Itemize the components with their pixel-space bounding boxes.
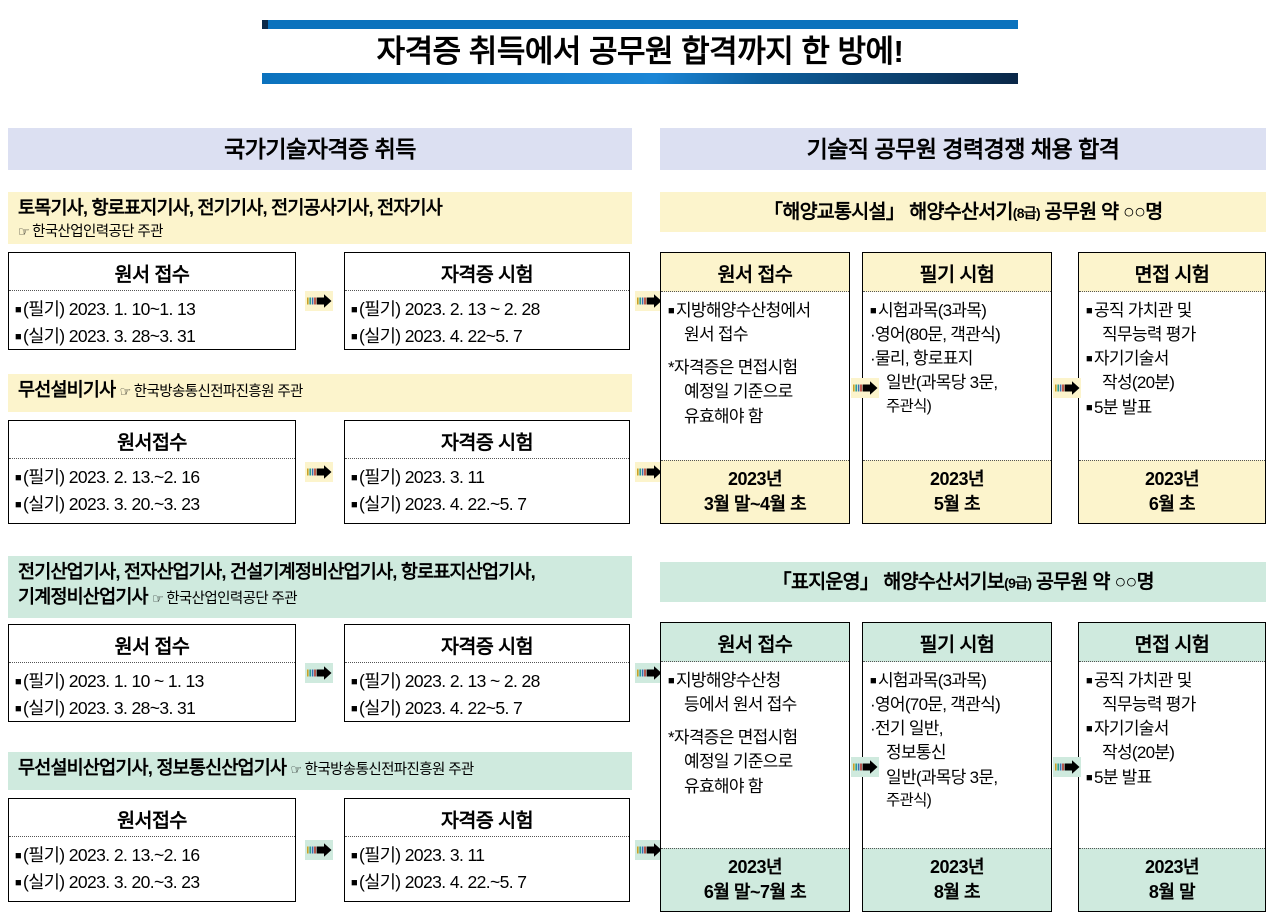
cert-step-box: 자격증 시험■(필기) 2023. 2. 13 ~ 2. 28■(실기) 202… bbox=[344, 252, 630, 350]
hiring-step-text: 예정일 기준으로 bbox=[684, 382, 793, 401]
job-count: 공무원 약 ○○명 bbox=[1040, 201, 1163, 223]
square-bullet-icon: ■ bbox=[668, 675, 676, 687]
group-subtitle: 한국산업인력공단 주관 bbox=[32, 224, 163, 240]
pointing-hand-icon: ☞ bbox=[18, 224, 32, 239]
hiring-step-line: 원서 접수 bbox=[668, 323, 844, 347]
group-subtitle-row: ☞ 한국산업인력공단 주관 bbox=[18, 221, 624, 243]
hiring-step-text: 예정일 기준으로 bbox=[684, 752, 793, 771]
square-bullet-icon: ■ bbox=[15, 676, 23, 688]
hiring-step-line: ■5분 발표 bbox=[1086, 766, 1260, 790]
hiring-step-text: 물리, 항로표지 bbox=[875, 349, 973, 368]
cert-date-line: ■(필기) 2023. 2. 13.~2. 16 bbox=[15, 464, 291, 491]
cert-date-line: ■(실기) 2023. 4. 22~5. 7 bbox=[351, 323, 625, 350]
infographic-page: 자격증 취득에서 공무원 합격까지 한 방에! 국가기술자격증 취득 기술직 공… bbox=[0, 0, 1273, 917]
group-banner-1: 토목기사, 항로표지기사, 전기기사, 전기공사기사, 전자기사☞ 한국산업인력… bbox=[8, 192, 632, 244]
schedule-year: 2023년 bbox=[1079, 467, 1265, 491]
hiring-step-line: 유효해야 함 bbox=[668, 405, 844, 429]
hiring-step-box: 원서 접수■지방해양수산청에서원서 접수*자격증은 면접시험예정일 기준으로유효… bbox=[660, 252, 850, 524]
square-bullet-icon: ■ bbox=[668, 305, 676, 317]
flow-arrow-icon bbox=[848, 373, 882, 403]
cert-date-text: (실기) 2023. 4. 22.~5. 7 bbox=[359, 494, 526, 514]
pointing-hand-icon: ☞ bbox=[152, 591, 166, 606]
hiring-step-line: *자격증은 면접시험 bbox=[668, 356, 844, 380]
hiring-step-line: ■지방해양수산청 bbox=[668, 669, 844, 693]
hiring-step-text: 직무능력 평가 bbox=[1102, 325, 1196, 344]
square-bullet-icon: ■ bbox=[351, 499, 359, 511]
cert-date-line: ■(실기) 2023. 4. 22~5. 7 bbox=[351, 695, 625, 722]
job-banner-2: 「표지운영」 해양수산서기보(9급) 공무원 약 ○○명 bbox=[660, 562, 1266, 602]
hiring-step-line: 정보통신 bbox=[870, 741, 1046, 765]
square-bullet-icon: ■ bbox=[1086, 723, 1094, 735]
hiring-step-text: 지방해양수산청 bbox=[676, 671, 781, 690]
hiring-step-text: 주관식) bbox=[886, 398, 931, 415]
schedule-year: 2023년 bbox=[661, 467, 849, 491]
hiring-step-schedule: 2023년8월 말 bbox=[1079, 848, 1265, 911]
hiring-step-line: ■자기기술서 bbox=[1086, 717, 1260, 741]
square-bullet-icon: ■ bbox=[1086, 353, 1094, 365]
hiring-step-body: ■시험과목(3과목)·영어(80문, 객관식)·물리, 항로표지일반(과목당 3… bbox=[863, 292, 1051, 460]
hiring-step-text: 작성(20분) bbox=[1102, 743, 1174, 762]
hiring-step-box: 면접 시험■공직 가치관 및직무능력 평가■자기기술서작성(20분)■5분 발표… bbox=[1078, 252, 1266, 524]
hiring-step-text: 유효해야 함 bbox=[684, 407, 763, 426]
group-subtitle: 한국방송통신전파진흥원 주관 bbox=[134, 384, 303, 400]
hiring-step-line: 예정일 기준으로 bbox=[668, 750, 844, 774]
cert-date-text: (실기) 2023. 3. 28~3. 31 bbox=[23, 326, 195, 346]
cert-date-text: (필기) 2023. 2. 13.~2. 16 bbox=[23, 845, 200, 865]
square-bullet-icon: ■ bbox=[351, 703, 359, 715]
hiring-step-box: 필기 시험■시험과목(3과목)·영어(70문, 객관식)·전기 일반,정보통신일… bbox=[862, 622, 1052, 912]
cert-step-title: 원서접수 bbox=[9, 799, 295, 837]
cert-date-line: ■(필기) 2023. 2. 13.~2. 16 bbox=[15, 842, 291, 869]
square-bullet-icon: ■ bbox=[15, 472, 23, 484]
hiring-step-body: ■공직 가치관 및직무능력 평가■자기기술서작성(20분)■5분 발표 bbox=[1079, 292, 1265, 460]
group-title: 토목기사, 항로표지기사, 전기기사, 전기공사기사, 전자기사 bbox=[18, 196, 624, 221]
hiring-step-text: 등에서 원서 접수 bbox=[684, 695, 797, 714]
hiring-step-box: 면접 시험■공직 가치관 및직무능력 평가■자기기술서작성(20분)■5분 발표… bbox=[1078, 622, 1266, 912]
schedule-period: 8월 말 bbox=[1079, 880, 1265, 904]
cert-step-title: 원서접수 bbox=[9, 421, 295, 459]
cert-step-box: 원서접수■(필기) 2023. 2. 13.~2. 16■(실기) 2023. … bbox=[8, 798, 296, 902]
hiring-step-text: 5분 발표 bbox=[1094, 398, 1152, 417]
hiring-step-schedule: 2023년6월 초 bbox=[1079, 460, 1265, 523]
hiring-step-schedule: 2023년5월 초 bbox=[863, 460, 1051, 523]
cert-date-text: (필기) 2023. 2. 13 ~ 2. 28 bbox=[359, 299, 540, 319]
cert-date-text: (실기) 2023. 4. 22~5. 7 bbox=[359, 698, 522, 718]
square-bullet-icon: ■ bbox=[15, 703, 23, 715]
group-subtitle: 한국산업인력공단 주관 bbox=[166, 591, 297, 607]
hiring-step-line: 유효해야 함 bbox=[668, 775, 844, 799]
square-bullet-icon: ■ bbox=[1086, 402, 1094, 414]
job-grade: (8급) bbox=[1013, 205, 1040, 221]
group-title-row: 무선설비기사 ☞ 한국방송통신전파진흥원 주관 bbox=[18, 378, 624, 403]
section-header-left: 국가기술자격증 취득 bbox=[8, 128, 632, 170]
cert-step-title: 자격증 시험 bbox=[345, 253, 629, 291]
square-bullet-icon: ■ bbox=[870, 675, 878, 687]
hiring-step-text: 전기 일반, bbox=[875, 719, 943, 738]
group-title: 무선설비기사 bbox=[18, 379, 120, 400]
flow-arrow-icon bbox=[302, 286, 336, 316]
square-bullet-icon: ■ bbox=[1086, 772, 1094, 784]
hiring-step-text: 공직 가치관 및 bbox=[1094, 301, 1192, 320]
group-title: 전기산업기사, 전자산업기사, 건설기계정비산업기사, 항로표지산업기사, bbox=[18, 560, 624, 585]
hiring-step-body: ■시험과목(3과목)·영어(70문, 객관식)·전기 일반,정보통신일반(과목당… bbox=[863, 662, 1051, 848]
square-bullet-icon: ■ bbox=[15, 331, 23, 343]
cert-step-box: 자격증 시험■(필기) 2023. 2. 13 ~ 2. 28■(실기) 202… bbox=[344, 624, 630, 722]
title-top-rule bbox=[262, 20, 1018, 29]
job-grade: (9급) bbox=[1004, 575, 1031, 591]
cert-step-title: 자격증 시험 bbox=[345, 625, 629, 663]
group-title: 무선설비산업기사, 정보통신산업기사 bbox=[18, 757, 291, 778]
group-subtitle-row: 기계정비산업기사 ☞ 한국산업인력공단 주관 bbox=[18, 585, 624, 610]
cert-date-text: (필기) 2023. 3. 11 bbox=[359, 467, 484, 487]
cert-date-text: (필기) 2023. 1. 10 ~ 1. 13 bbox=[23, 671, 204, 691]
pointing-hand-icon: ☞ bbox=[291, 762, 305, 777]
hiring-step-line: ■공직 가치관 및 bbox=[1086, 669, 1260, 693]
hiring-step-text: 일반(과목당 3문, bbox=[886, 373, 997, 392]
square-bullet-icon: ■ bbox=[15, 877, 23, 889]
hiring-step-line: ·영어(80문, 객관식) bbox=[870, 323, 1046, 347]
schedule-year: 2023년 bbox=[661, 855, 849, 879]
group-subtitle: 한국방송통신전파진흥원 주관 bbox=[305, 762, 474, 778]
cert-date-line: ■(실기) 2023. 3. 20.~3. 23 bbox=[15, 869, 291, 896]
hiring-step-text: *자격증은 면접시험 bbox=[668, 728, 797, 747]
hiring-step-line: ■자기기술서 bbox=[1086, 347, 1260, 371]
cert-date-line: ■(필기) 2023. 2. 13 ~ 2. 28 bbox=[351, 668, 625, 695]
hiring-step-line: 주관식) bbox=[870, 396, 1046, 418]
cert-date-line: ■(필기) 2023. 3. 11 bbox=[351, 842, 625, 869]
hiring-step-schedule: 2023년6월 말~7월 초 bbox=[661, 848, 849, 911]
schedule-year: 2023년 bbox=[863, 467, 1051, 491]
square-bullet-icon: ■ bbox=[15, 850, 23, 862]
cert-date-line: ■(실기) 2023. 4. 22.~5. 7 bbox=[351, 869, 625, 896]
hiring-step-line: ·영어(70문, 객관식) bbox=[870, 693, 1046, 717]
group-title-line2: 기계정비산업기사 bbox=[18, 586, 152, 607]
hiring-step-schedule: 2023년8월 초 bbox=[863, 848, 1051, 911]
square-bullet-icon: ■ bbox=[351, 304, 359, 316]
cert-step-box: 자격증 시험■(필기) 2023. 3. 11■(실기) 2023. 4. 22… bbox=[344, 420, 630, 524]
hiring-step-text: 자기기술서 bbox=[1094, 719, 1169, 738]
hiring-step-text: 영어(80문, 객관식) bbox=[875, 325, 1000, 344]
hiring-step-line: 직무능력 평가 bbox=[1086, 323, 1260, 347]
job-banner-1: 「해양교통시설」 해양수산서기(8급) 공무원 약 ○○명 bbox=[660, 192, 1266, 232]
hiring-step-title: 원서 접수 bbox=[661, 623, 849, 662]
cert-step-box: 원서접수■(필기) 2023. 2. 13.~2. 16■(실기) 2023. … bbox=[8, 420, 296, 524]
group-banner-4: 무선설비산업기사, 정보통신산업기사 ☞ 한국방송통신전파진흥원 주관 bbox=[8, 752, 632, 790]
cert-step-body: ■(필기) 2023. 3. 11■(실기) 2023. 4. 22.~5. 7 bbox=[345, 459, 629, 524]
hiring-step-line: ·전기 일반, bbox=[870, 717, 1046, 741]
hiring-step-line: 등에서 원서 접수 bbox=[668, 693, 844, 717]
cert-step-title: 자격증 시험 bbox=[345, 799, 629, 837]
cert-date-line: ■(실기) 2023. 3. 20.~3. 23 bbox=[15, 491, 291, 518]
title-block: 자격증 취득에서 공무원 합격까지 한 방에! bbox=[262, 20, 1018, 84]
flow-arrow-icon bbox=[1050, 373, 1084, 403]
hiring-step-text: 지방해양수산청에서 bbox=[676, 301, 810, 320]
flow-arrow-icon bbox=[1050, 752, 1084, 782]
cert-date-line: ■(필기) 2023. 2. 13 ~ 2. 28 bbox=[351, 296, 625, 323]
hiring-step-line: ■공직 가치관 및 bbox=[1086, 299, 1260, 323]
hiring-step-line: 작성(20분) bbox=[1086, 741, 1260, 765]
hiring-step-line: ·물리, 항로표지 bbox=[870, 347, 1046, 371]
title-nub bbox=[262, 20, 268, 29]
hiring-step-line: 예정일 기준으로 bbox=[668, 380, 844, 404]
hiring-step-text: 주관식) bbox=[886, 792, 931, 809]
cert-date-text: (필기) 2023. 3. 11 bbox=[359, 845, 484, 865]
cert-date-line: ■(실기) 2023. 3. 28~3. 31 bbox=[15, 323, 291, 350]
square-bullet-icon: ■ bbox=[15, 304, 23, 316]
cert-step-box: 원서 접수■(필기) 2023. 1. 10 ~ 1. 13■(실기) 2023… bbox=[8, 624, 296, 722]
hiring-step-line: 일반(과목당 3문, bbox=[870, 766, 1046, 790]
hiring-step-box: 원서 접수■지방해양수산청등에서 원서 접수*자격증은 면접시험예정일 기준으로… bbox=[660, 622, 850, 912]
hiring-step-title: 면접 시험 bbox=[1079, 253, 1265, 292]
hiring-step-title: 원서 접수 bbox=[661, 253, 849, 292]
flow-arrow-icon bbox=[848, 752, 882, 782]
flow-arrow-icon bbox=[302, 658, 336, 688]
square-bullet-icon: ■ bbox=[15, 499, 23, 511]
cert-date-text: (필기) 2023. 1. 10~1. 13 bbox=[23, 299, 195, 319]
hiring-step-title: 필기 시험 bbox=[863, 623, 1051, 662]
hiring-step-text: 정보통신 bbox=[886, 743, 946, 762]
cert-step-body: ■(필기) 2023. 2. 13 ~ 2. 28■(실기) 2023. 4. … bbox=[345, 291, 629, 356]
hiring-step-line: 직무능력 평가 bbox=[1086, 693, 1260, 717]
hiring-step-line: ■시험과목(3과목) bbox=[870, 669, 1046, 693]
hiring-step-line: *자격증은 면접시험 bbox=[668, 726, 844, 750]
cert-date-line: ■(실기) 2023. 4. 22.~5. 7 bbox=[351, 491, 625, 518]
square-bullet-icon: ■ bbox=[351, 331, 359, 343]
cert-date-text: (실기) 2023. 4. 22~5. 7 bbox=[359, 326, 522, 346]
cert-step-title: 원서 접수 bbox=[9, 625, 295, 663]
hiring-step-text: 자기기술서 bbox=[1094, 349, 1169, 368]
spacer bbox=[668, 347, 844, 356]
hiring-step-text: *자격증은 면접시험 bbox=[668, 358, 797, 377]
hiring-step-body: ■지방해양수산청등에서 원서 접수*자격증은 면접시험예정일 기준으로유효해야 … bbox=[661, 662, 849, 848]
section-header-right: 기술직 공무원 경력경쟁 채용 합격 bbox=[660, 128, 1266, 170]
schedule-year: 2023년 bbox=[863, 855, 1051, 879]
title-bottom-rule bbox=[262, 73, 1018, 84]
cert-step-box: 자격증 시험■(필기) 2023. 3. 11■(실기) 2023. 4. 22… bbox=[344, 798, 630, 902]
cert-date-line: ■(필기) 2023. 3. 11 bbox=[351, 464, 625, 491]
page-title: 자격증 취득에서 공무원 합격까지 한 방에! bbox=[262, 29, 1018, 73]
cert-step-body: ■(필기) 2023. 2. 13.~2. 16■(실기) 2023. 3. 2… bbox=[9, 837, 295, 902]
cert-step-box: 원서 접수■(필기) 2023. 1. 10~1. 13■(실기) 2023. … bbox=[8, 252, 296, 350]
hiring-step-schedule: 2023년3월 말~4월 초 bbox=[661, 460, 849, 523]
cert-date-text: (필기) 2023. 2. 13 ~ 2. 28 bbox=[359, 671, 540, 691]
hiring-step-body: ■지방해양수산청에서원서 접수*자격증은 면접시험예정일 기준으로유효해야 함 bbox=[661, 292, 849, 460]
hiring-step-text: 시험과목(3과목) bbox=[878, 301, 986, 320]
hiring-step-title: 필기 시험 bbox=[863, 253, 1051, 292]
cert-date-text: (실기) 2023. 3. 28~3. 31 bbox=[23, 698, 195, 718]
square-bullet-icon: ■ bbox=[351, 877, 359, 889]
hiring-step-line: 주관식) bbox=[870, 790, 1046, 812]
hiring-step-text: 공직 가치관 및 bbox=[1094, 671, 1192, 690]
group-banner-3: 전기산업기사, 전자산업기사, 건설기계정비산업기사, 항로표지산업기사,기계정… bbox=[8, 556, 632, 618]
spacer bbox=[668, 717, 844, 726]
cert-date-text: (필기) 2023. 2. 13.~2. 16 bbox=[23, 467, 200, 487]
square-bullet-icon: ■ bbox=[351, 850, 359, 862]
cert-date-line: ■(필기) 2023. 1. 10~1. 13 bbox=[15, 296, 291, 323]
cert-date-line: ■(필기) 2023. 1. 10 ~ 1. 13 bbox=[15, 668, 291, 695]
square-bullet-icon: ■ bbox=[1086, 305, 1094, 317]
hiring-step-line: ■5분 발표 bbox=[1086, 396, 1260, 420]
cert-date-text: (실기) 2023. 4. 22.~5. 7 bbox=[359, 872, 526, 892]
schedule-period: 3월 말~4월 초 bbox=[661, 492, 849, 516]
group-banner-2: 무선설비기사 ☞ 한국방송통신전파진흥원 주관 bbox=[8, 374, 632, 412]
cert-step-body: ■(필기) 2023. 2. 13 ~ 2. 28■(실기) 2023. 4. … bbox=[345, 663, 629, 728]
square-bullet-icon: ■ bbox=[870, 305, 878, 317]
hiring-step-text: 작성(20분) bbox=[1102, 373, 1174, 392]
hiring-step-line: 일반(과목당 3문, bbox=[870, 371, 1046, 395]
cert-date-text: (실기) 2023. 3. 20.~3. 23 bbox=[23, 872, 200, 892]
cert-step-body: ■(필기) 2023. 1. 10~1. 13■(실기) 2023. 3. 28… bbox=[9, 291, 295, 356]
hiring-step-box: 필기 시험■시험과목(3과목)·영어(80문, 객관식)·물리, 항로표지일반(… bbox=[862, 252, 1052, 524]
cert-step-body: ■(필기) 2023. 1. 10 ~ 1. 13■(실기) 2023. 3. … bbox=[9, 663, 295, 728]
cert-date-text: (실기) 2023. 3. 20.~3. 23 bbox=[23, 494, 200, 514]
cert-step-body: ■(필기) 2023. 3. 11■(실기) 2023. 4. 22.~5. 7 bbox=[345, 837, 629, 902]
cert-step-body: ■(필기) 2023. 2. 13.~2. 16■(실기) 2023. 3. 2… bbox=[9, 459, 295, 524]
hiring-step-body: ■공직 가치관 및직무능력 평가■자기기술서작성(20분)■5분 발표 bbox=[1079, 662, 1265, 848]
flow-arrow-icon bbox=[302, 457, 336, 487]
square-bullet-icon: ■ bbox=[1086, 675, 1094, 687]
hiring-step-text: 직무능력 평가 bbox=[1102, 695, 1196, 714]
hiring-step-line: 작성(20분) bbox=[1086, 371, 1260, 395]
square-bullet-icon: ■ bbox=[351, 676, 359, 688]
schedule-period: 8월 초 bbox=[863, 880, 1051, 904]
group-title-row: 무선설비산업기사, 정보통신산업기사 ☞ 한국방송통신전파진흥원 주관 bbox=[18, 756, 624, 781]
cert-date-line: ■(실기) 2023. 3. 28~3. 31 bbox=[15, 695, 291, 722]
job-count: 공무원 약 ○○명 bbox=[1031, 571, 1154, 593]
hiring-step-line: ■지방해양수산청에서 bbox=[668, 299, 844, 323]
hiring-step-text: 시험과목(3과목) bbox=[878, 671, 986, 690]
schedule-period: 5월 초 bbox=[863, 492, 1051, 516]
hiring-step-text: 유효해야 함 bbox=[684, 777, 763, 796]
square-bullet-icon: ■ bbox=[351, 472, 359, 484]
cert-step-title: 자격증 시험 bbox=[345, 421, 629, 459]
job-title: 「해양교통시설」 해양수산서기 bbox=[764, 201, 1013, 223]
hiring-step-text: 원서 접수 bbox=[684, 325, 748, 344]
hiring-step-text: 5분 발표 bbox=[1094, 768, 1152, 787]
schedule-period: 6월 초 bbox=[1079, 492, 1265, 516]
hiring-step-line: ■시험과목(3과목) bbox=[870, 299, 1046, 323]
hiring-step-title: 면접 시험 bbox=[1079, 623, 1265, 662]
hiring-step-text: 일반(과목당 3문, bbox=[886, 768, 997, 787]
job-title: 「표지운영」 해양수산서기보 bbox=[772, 571, 1004, 593]
flow-arrow-icon bbox=[302, 835, 336, 865]
cert-step-title: 원서 접수 bbox=[9, 253, 295, 291]
schedule-period: 6월 말~7월 초 bbox=[661, 880, 849, 904]
schedule-year: 2023년 bbox=[1079, 855, 1265, 879]
pointing-hand-icon: ☞ bbox=[120, 384, 134, 399]
hiring-step-text: 영어(70문, 객관식) bbox=[875, 695, 1000, 714]
